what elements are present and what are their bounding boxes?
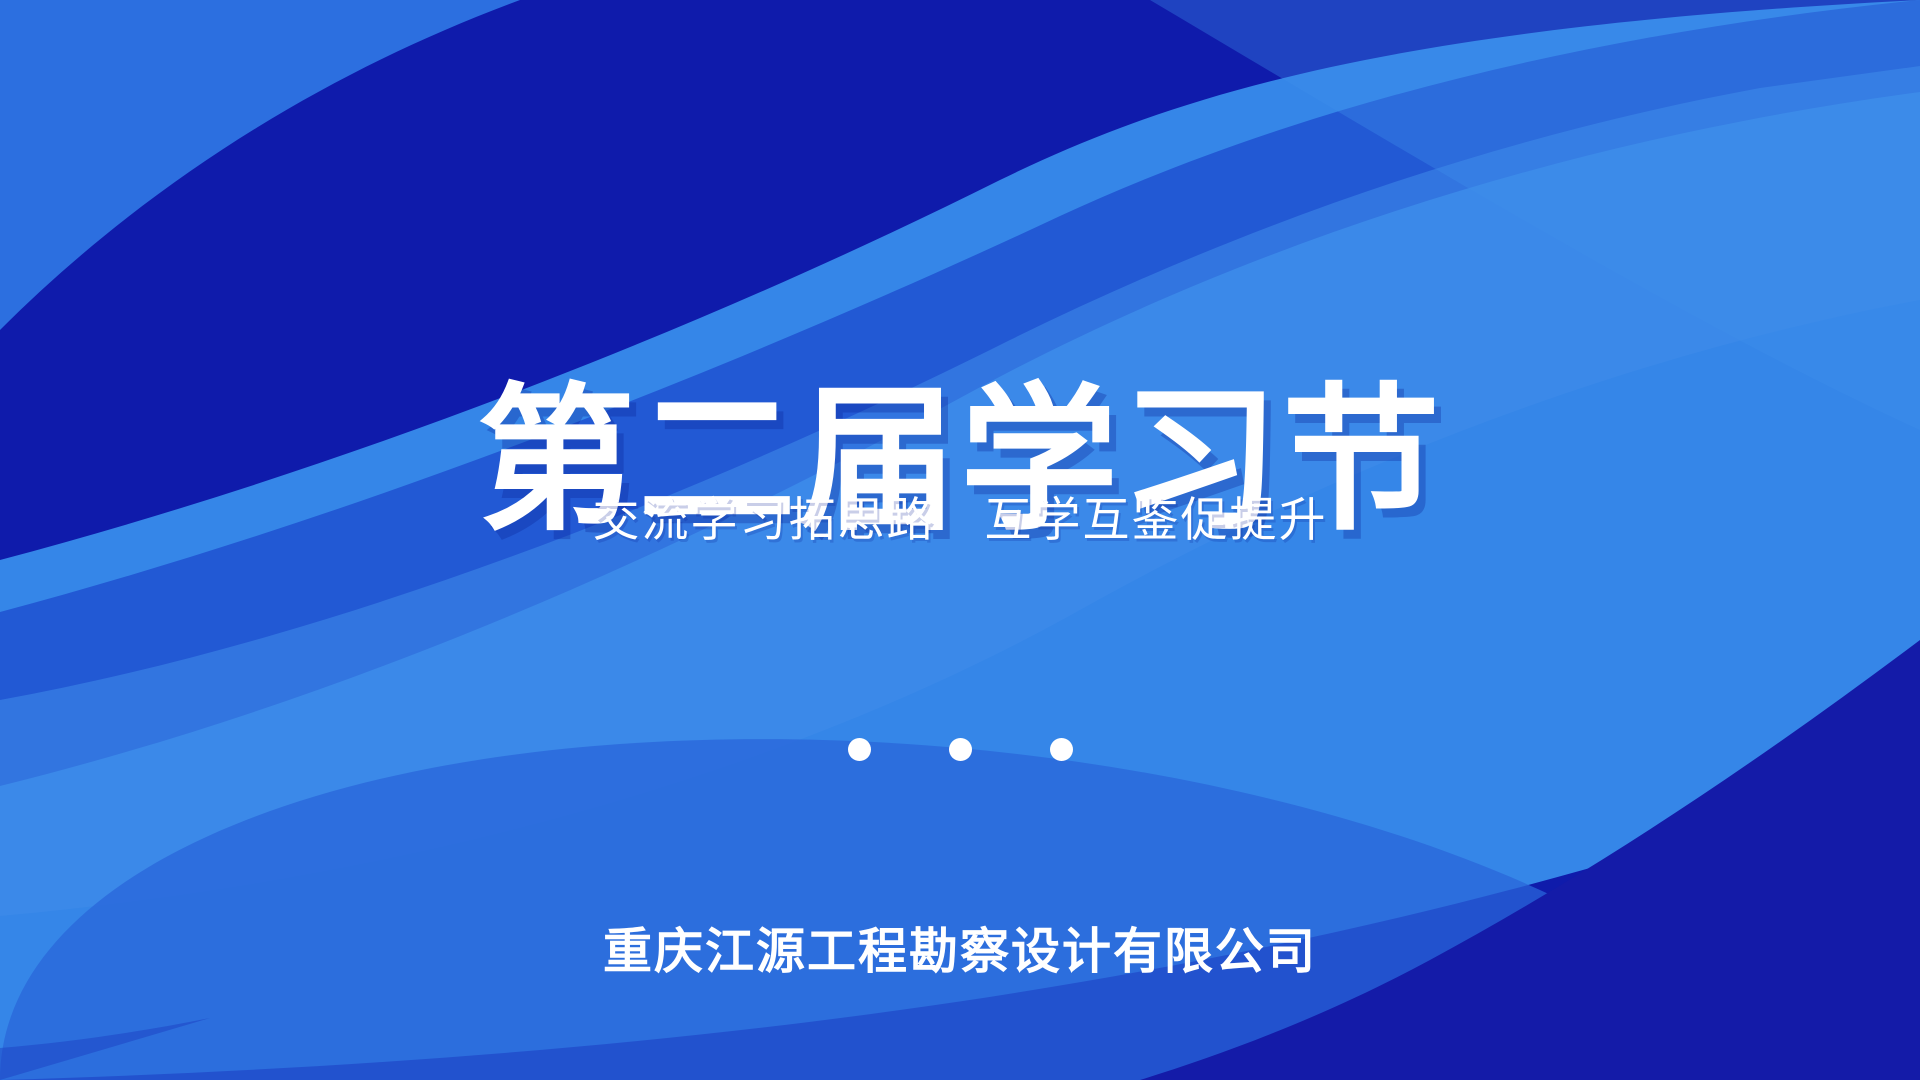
- decorative-dots: [0, 738, 1920, 761]
- dot-icon: [949, 738, 972, 761]
- company-name: 重庆江源工程勘察设计有限公司: [0, 912, 1920, 983]
- poster-content: 第二届学习节 交流学习拓思路 互学互鉴促提升 重庆江源工程勘察设计有限公司: [0, 0, 1920, 1080]
- poster-subtitle: 交流学习拓思路 互学互鉴促提升: [0, 492, 1920, 551]
- dot-icon: [1050, 738, 1073, 761]
- dot-icon: [848, 738, 871, 761]
- poster-canvas: 第二届学习节 交流学习拓思路 互学互鉴促提升 重庆江源工程勘察设计有限公司: [0, 0, 1920, 1080]
